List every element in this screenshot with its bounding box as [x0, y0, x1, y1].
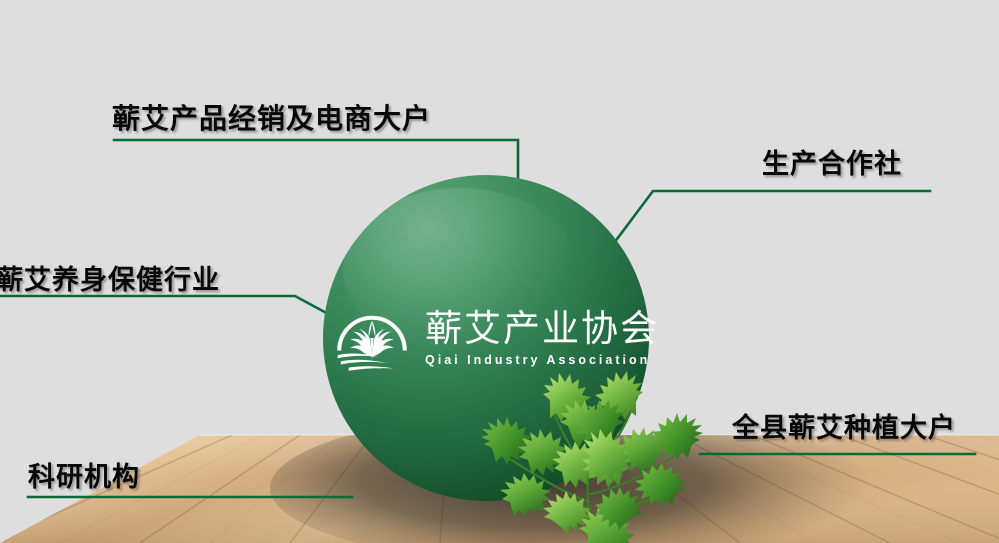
mugwort-leaf-circle-emblem: [333, 299, 411, 377]
mugwort-plant: [440, 352, 740, 543]
label-bottom-right: 全县蕲艾种植大户: [732, 406, 956, 445]
label-top: 蕲艾产品经销及电商大户: [112, 97, 431, 137]
diagram-canvas: 蕲艾产业协会 Qiai Industry Association: [0, 0, 999, 543]
label-left: 蕲艾养身保健行业: [0, 258, 220, 297]
label-bottom-left: 科研机构: [28, 455, 140, 494]
logo-title-cn: 蕲艾产业协会: [425, 309, 659, 348]
label-right: 生产合作社: [762, 142, 902, 181]
